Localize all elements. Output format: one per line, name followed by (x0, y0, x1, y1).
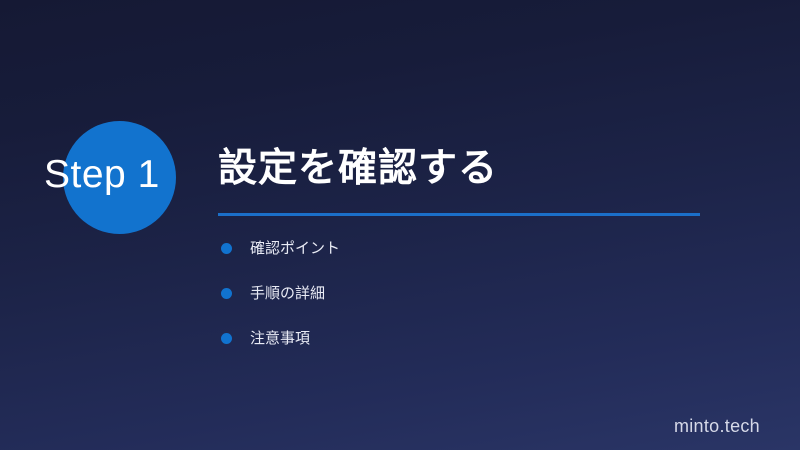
list-item: 手順の詳細 (221, 286, 340, 301)
list-item: 確認ポイント (221, 241, 340, 256)
list-item-label: 手順の詳細 (250, 286, 325, 301)
footer-brand-watermark: minto.tech (674, 416, 760, 437)
slide-title: 設定を確認する (218, 143, 718, 195)
list-item-label: 注意事項 (250, 331, 310, 346)
step-number-label: Step 1 (44, 152, 214, 198)
slide-canvas: Step 1 設定を確認する 確認ポイント 手順の詳細 注意事項 minto.t… (0, 0, 800, 450)
title-divider (218, 213, 700, 216)
bullet-list: 確認ポイント 手順の詳細 注意事項 (221, 241, 340, 376)
bullet-dot-icon (221, 288, 232, 299)
title-block: 設定を確認する (218, 143, 718, 216)
list-item-label: 確認ポイント (250, 241, 340, 256)
bullet-dot-icon (221, 333, 232, 344)
list-item: 注意事項 (221, 331, 340, 346)
bullet-dot-icon (221, 243, 232, 254)
